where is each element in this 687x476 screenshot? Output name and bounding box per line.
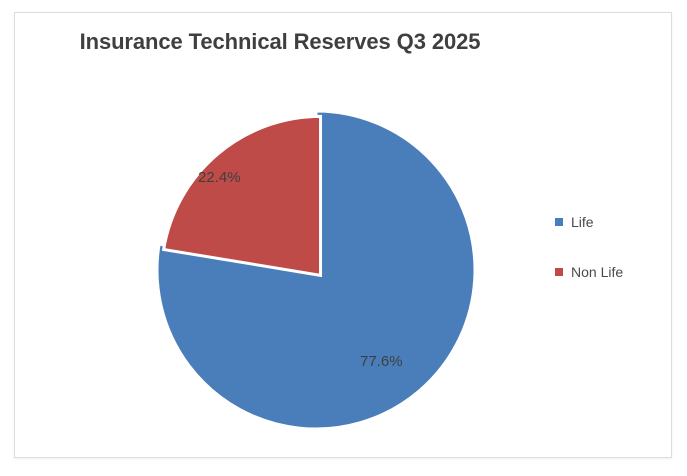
pie-plot-area: 22.4% 77.6% (15, 13, 545, 459)
chart-frame: Insurance Technical Reserves Q3 2025 22.… (14, 12, 672, 458)
legend-item-life[interactable]: Life (555, 213, 665, 231)
pie-chart-graphic (135, 89, 475, 429)
pie-slice-non-life[interactable] (164, 116, 321, 275)
legend-swatch-life-icon (555, 218, 563, 226)
legend-item-non-life[interactable]: Non Life (555, 263, 665, 281)
chart-legend: Life Non Life (555, 213, 665, 313)
legend-swatch-non-life-icon (555, 268, 563, 276)
pie-label-non-life: 22.4% (198, 169, 241, 186)
pie-label-life: 77.6% (360, 353, 403, 370)
legend-label-life: Life (571, 214, 594, 230)
legend-label-non-life: Non Life (571, 264, 623, 280)
